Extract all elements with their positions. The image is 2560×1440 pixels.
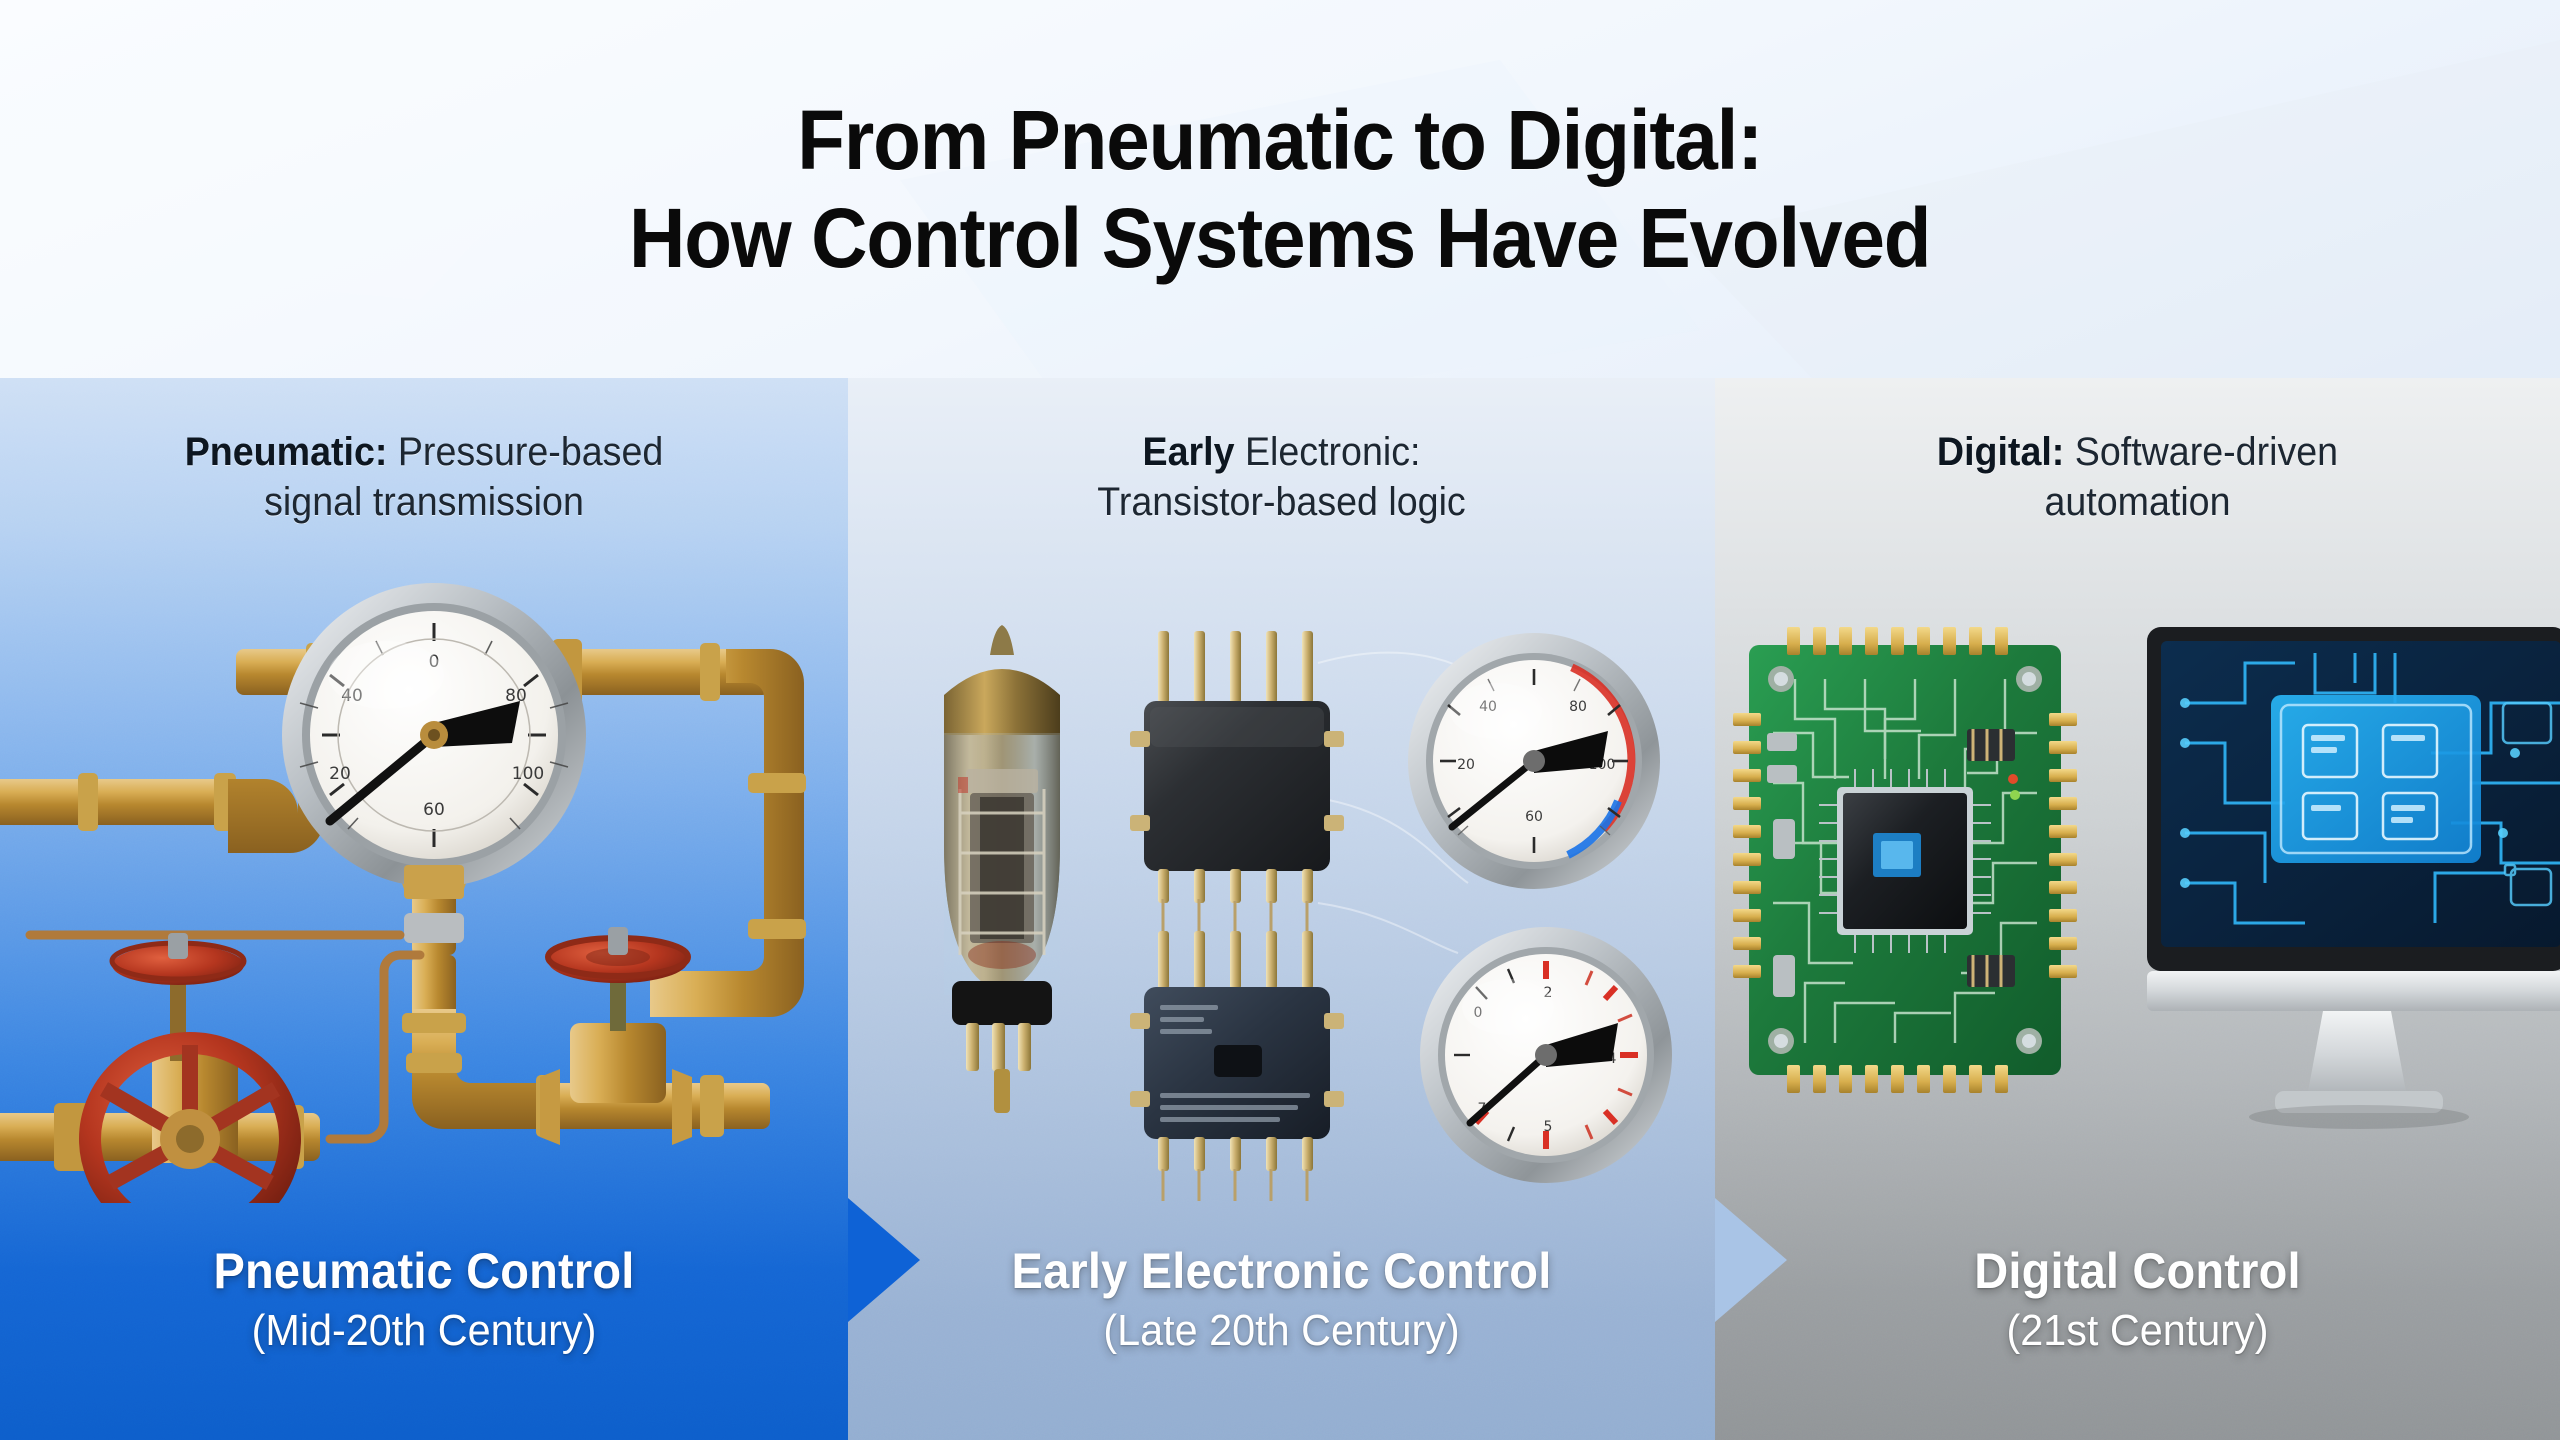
- caption-bottom-pneumatic: Pneumatic Control (Mid-20th Century): [25, 1242, 822, 1356]
- ic-chip-lower: [1130, 899, 1344, 1201]
- panel-early-electronic[interactable]: Early Electronic: Transistor-based logic: [848, 378, 1715, 1440]
- caption-bold-pneumatic: Pneumatic:: [185, 430, 388, 474]
- caption-top-electronic: Early Electronic: Transistor-based logic: [874, 428, 1689, 527]
- circuit-board: [1733, 627, 2077, 1093]
- panel-title-electronic: Early Electronic Control: [874, 1242, 1689, 1300]
- caption-rest-digital: Software-driven: [2064, 430, 2338, 474]
- svg-text:60: 60: [1525, 809, 1543, 825]
- panel-title-digital: Digital Control: [1740, 1242, 2534, 1300]
- valve-left: [90, 933, 290, 1203]
- artwork-digital: [1715, 583, 2560, 1203]
- svg-text:20: 20: [329, 764, 351, 784]
- flow-arrow-electronic-to-digital: [1715, 1198, 1787, 1322]
- panel-title-pneumatic: Pneumatic Control: [25, 1242, 822, 1300]
- analog-gauge-lower: 024 75: [1420, 927, 1672, 1183]
- flow-arrow-pneumatic-to-electronic: [848, 1198, 920, 1322]
- svg-text:80: 80: [1569, 699, 1587, 715]
- panel-pneumatic[interactable]: Pneumatic: Pressure-based signal transmi…: [0, 378, 848, 1440]
- caption-line2-electronic: Transistor-based logic: [874, 478, 1689, 528]
- analog-gauge-upper: 4080 2010060: [1408, 633, 1662, 889]
- caption-rest-electronic: Electronic:: [1235, 430, 1421, 474]
- caption-bold-digital: Digital:: [1937, 430, 2064, 474]
- title-line-1: From Pneumatic to Digital:: [629, 91, 1930, 189]
- svg-text:20: 20: [1457, 757, 1475, 773]
- pressure-gauge: 04080 2010060: [282, 583, 586, 899]
- title-line-2: How Control Systems Have Evolved: [629, 189, 1930, 287]
- page-title: From Pneumatic to Digital: How Control S…: [629, 91, 1930, 288]
- artwork-early-electronic: 4080 2010060: [848, 583, 1715, 1203]
- caption-rest-pneumatic: Pressure-based: [387, 430, 663, 474]
- infographic-canvas: From Pneumatic to Digital: How Control S…: [0, 0, 2560, 1440]
- hmi-monitor: [2147, 627, 2560, 1129]
- svg-text:5: 5: [1544, 1119, 1553, 1135]
- caption-line2-digital: automation: [1740, 478, 2534, 528]
- caption-bottom-digital: Digital Control (21st Century): [1740, 1242, 2534, 1356]
- panel-era-electronic: (Late 20th Century): [874, 1306, 1689, 1356]
- caption-top-digital: Digital: Software-driven automation: [1740, 428, 2534, 527]
- artwork-pneumatic: 04080 2010060: [0, 583, 848, 1203]
- panel-era-pneumatic: (Mid-20th Century): [25, 1306, 822, 1356]
- caption-line2-pneumatic: signal transmission: [25, 478, 822, 528]
- svg-text:60: 60: [423, 800, 445, 820]
- caption-bold-electronic: Early: [1143, 430, 1235, 474]
- panel-digital[interactable]: Digital: Software-driven automation: [1715, 378, 2560, 1440]
- caption-bottom-electronic: Early Electronic Control (Late 20th Cent…: [874, 1242, 1689, 1356]
- svg-text:100: 100: [512, 764, 544, 784]
- timeline-panels: Pneumatic: Pressure-based signal transmi…: [0, 378, 2560, 1440]
- page-header: From Pneumatic to Digital: How Control S…: [0, 0, 2560, 378]
- panel-era-digital: (21st Century): [1740, 1306, 2534, 1356]
- caption-top-pneumatic: Pneumatic: Pressure-based signal transmi…: [25, 428, 822, 527]
- vacuum-tube: [944, 625, 1060, 1113]
